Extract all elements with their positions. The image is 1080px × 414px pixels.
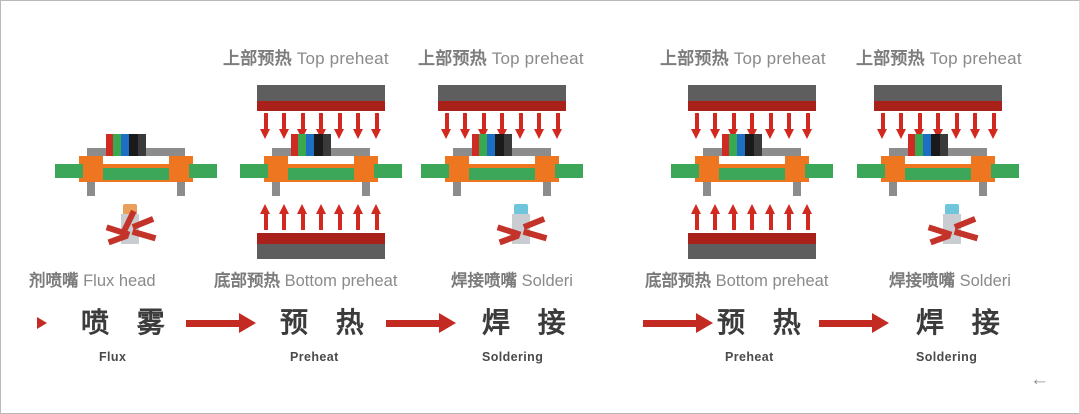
stage-label-cn-preheat-1: 预 热	[280, 309, 374, 337]
pcb-board-left	[671, 164, 699, 178]
heater-metal	[257, 244, 385, 259]
heater-element	[688, 233, 816, 244]
caption-top-preheat-1: 上部预热 Top preheat	[223, 50, 389, 67]
caption-flux-head: 剂喷嘴 Flux head	[29, 273, 156, 290]
caption-en: Top preheat	[734, 49, 826, 68]
resistor-band-red	[291, 134, 298, 156]
caption-en: Solderi	[960, 272, 1011, 290]
heater-metal	[438, 85, 566, 101]
caption-cn: 剂喷嘴	[29, 272, 79, 290]
pcb-board-left	[857, 164, 885, 178]
resistor-band-black	[931, 134, 940, 156]
heat-arrow-up	[371, 204, 382, 230]
heater-element	[688, 101, 816, 111]
pcb-board-center	[469, 168, 535, 180]
flow-arrow-4	[819, 313, 889, 333]
resistor-band-black	[314, 134, 323, 156]
stage-label-en-preheat-1: Preheat	[290, 351, 339, 364]
resistor-band-red	[722, 134, 729, 156]
pcb-assembly-1	[55, 134, 217, 196]
pcb-board-center	[719, 168, 785, 180]
caption-bottom-preheat-2: 底部预热 Bottom preheat	[645, 273, 828, 290]
heat-arrows-up-2	[260, 204, 382, 230]
caption-en: Flux head	[83, 272, 155, 290]
pcb-board-center	[905, 168, 971, 180]
resistor-band-dark	[504, 134, 512, 156]
heat-arrow-up	[784, 204, 795, 230]
pcb-assembly-3	[421, 134, 583, 196]
resistor-band-black	[129, 134, 138, 156]
resistor-band-green	[729, 134, 737, 156]
resistor-band-dark	[138, 134, 146, 156]
pcb-board-right	[991, 164, 1019, 178]
heat-arrow-up	[802, 204, 813, 230]
caption-cn: 上部预热	[856, 49, 925, 68]
stage-label-en-flux: Flux	[99, 351, 126, 364]
caption-en: Top preheat	[930, 49, 1022, 68]
resistor-band-dark	[940, 134, 948, 156]
arrow-shaft	[386, 320, 441, 327]
arrow-shaft	[186, 320, 241, 327]
caption-cn: 焊接喷嘴	[451, 272, 517, 290]
resistor-band-green	[113, 134, 121, 156]
heat-arrow-up	[353, 204, 364, 230]
stage-label-en-soldering-1: Soldering	[482, 351, 543, 364]
stage-label-cn-preheat-2: 预 热	[717, 309, 811, 337]
caption-solder-nozzle-2: 焊接喷嘴 Solderi	[889, 273, 1011, 290]
arrow-head	[696, 313, 713, 333]
resistor-band-blue	[487, 134, 495, 156]
caption-cn: 上部预热	[418, 49, 487, 68]
arrow-head	[872, 313, 889, 333]
flow-arrow-1	[186, 313, 256, 333]
heater-element	[874, 101, 1002, 111]
resistor-band-green	[915, 134, 923, 156]
resistor-band-green	[298, 134, 306, 156]
stage-label-cn-soldering-1: 焊 接	[482, 309, 576, 337]
solder-nozzle-icon-5	[928, 204, 984, 256]
heat-arrow-up	[747, 204, 758, 230]
diagram-canvas: 上部预热 Top preheat 上部预热 Top preheat 上部预热 T…	[0, 0, 1080, 414]
caption-cn: 上部预热	[223, 49, 292, 68]
pcb-board-right	[805, 164, 833, 178]
pcb-board-right	[189, 164, 217, 178]
arrow-head	[439, 313, 456, 333]
flow-start-triangle	[37, 317, 47, 329]
heater-element	[257, 233, 385, 244]
pcb-board-right	[374, 164, 402, 178]
flow-arrow-2	[386, 313, 456, 333]
heat-arrow-up	[710, 204, 721, 230]
pcb-board-left	[421, 164, 449, 178]
pcb-assembly-4	[671, 134, 833, 196]
caption-en: Bottom preheat	[716, 272, 829, 290]
caption-solder-nozzle-1: 焊接喷嘴 Solderi	[451, 273, 573, 290]
heater-metal	[257, 85, 385, 101]
caption-en: Top preheat	[492, 49, 584, 68]
arrow-head	[239, 313, 256, 333]
heat-arrow-up	[334, 204, 345, 230]
resistor-band-blue	[923, 134, 931, 156]
heater-element	[257, 101, 385, 111]
resistor-band-dark	[754, 134, 762, 156]
arrow-shaft	[643, 320, 698, 327]
stage-label-cn-soldering-2: 焊 接	[916, 309, 1010, 337]
heat-arrow-up	[260, 204, 271, 230]
resistor-band-red	[106, 134, 113, 156]
resistor-band-dark	[323, 134, 331, 156]
caption-bottom-preheat-1: 底部预热 Bottom preheat	[214, 273, 397, 290]
flux-nozzle-icon	[106, 204, 162, 256]
resistor-band-blue	[121, 134, 129, 156]
heat-arrow-up	[279, 204, 290, 230]
heat-arrow-up	[765, 204, 776, 230]
pcb-board-center	[288, 168, 354, 180]
pcb-board-center	[103, 168, 169, 180]
heat-arrow-up	[728, 204, 739, 230]
resistor-band-red	[472, 134, 479, 156]
stage-label-cn-flux: 喷 雾	[81, 309, 175, 337]
caption-cn: 底部预热	[214, 272, 280, 290]
pcb-board-left	[240, 164, 268, 178]
arrow-shaft	[819, 320, 874, 327]
pcb-assembly-5	[857, 134, 1019, 196]
pcb-board-right	[555, 164, 583, 178]
pcb-assembly-2	[240, 134, 402, 196]
caption-cn: 底部预热	[645, 272, 711, 290]
caption-top-preheat-4: 上部预热 Top preheat	[856, 50, 1022, 67]
heater-metal	[874, 85, 1002, 101]
resistor-band-blue	[737, 134, 745, 156]
caption-en: Solderi	[522, 272, 573, 290]
caption-cn: 上部预热	[660, 49, 729, 68]
heat-arrow-up	[691, 204, 702, 230]
heat-arrow-up	[316, 204, 327, 230]
resistor-band-black	[495, 134, 504, 156]
resistor-band-black	[745, 134, 754, 156]
stage-label-en-preheat-2: Preheat	[725, 351, 774, 364]
resistor-band-red	[908, 134, 915, 156]
stage-label-en-soldering-2: Soldering	[916, 351, 977, 364]
heat-arrow-up	[297, 204, 308, 230]
caption-top-preheat-2: 上部预热 Top preheat	[418, 50, 584, 67]
heater-element	[438, 101, 566, 111]
solder-nozzle-icon-3	[497, 204, 553, 256]
caption-en: Top preheat	[297, 49, 389, 68]
caption-top-preheat-3: 上部预热 Top preheat	[660, 50, 826, 67]
pcb-board-left	[55, 164, 83, 178]
heater-metal	[688, 244, 816, 259]
heater-metal	[688, 85, 816, 101]
caption-en: Bottom preheat	[285, 272, 398, 290]
resistor-band-green	[479, 134, 487, 156]
flow-arrow-3	[643, 313, 713, 333]
back-arrow-icon[interactable]: ←	[1030, 370, 1049, 389]
caption-cn: 焊接喷嘴	[889, 272, 955, 290]
heat-arrows-up-4	[691, 204, 813, 230]
resistor-band-blue	[306, 134, 314, 156]
